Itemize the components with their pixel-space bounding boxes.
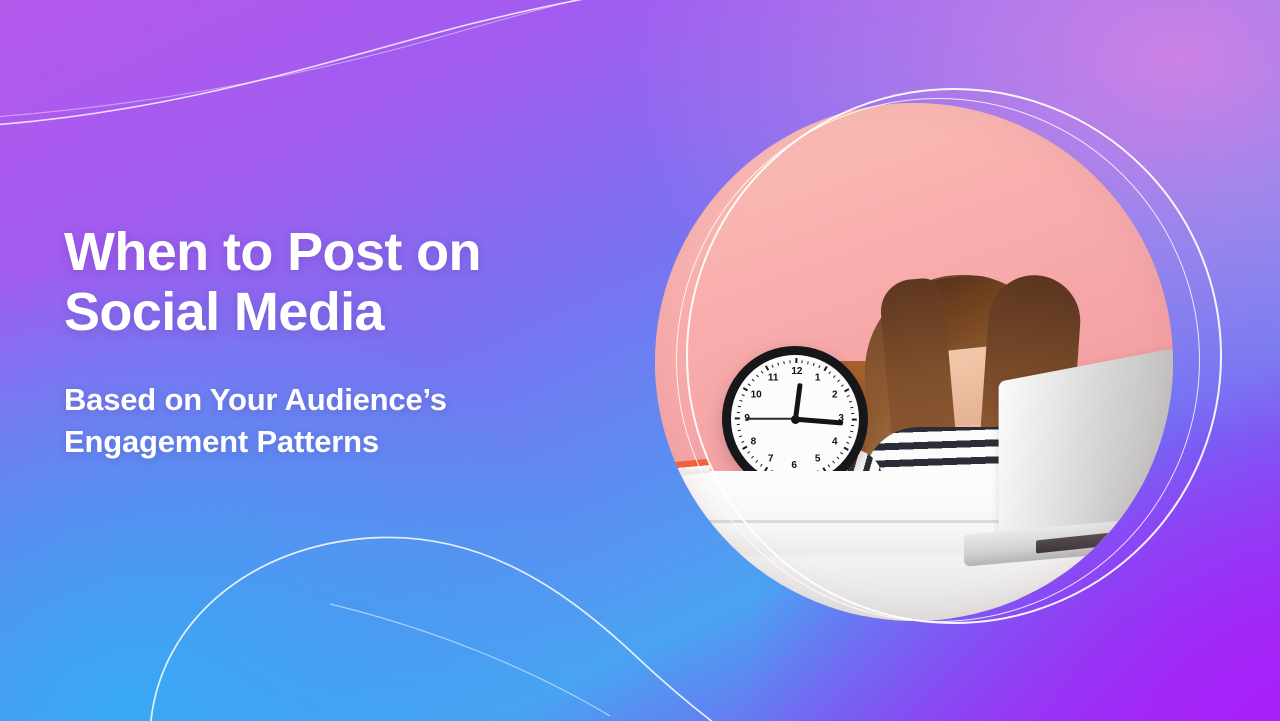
photo-rim: [655, 103, 1173, 621]
top-left-curve-path: [0, 0, 660, 126]
page-subtitle: Based on Your Audience’s Engagement Patt…: [64, 379, 624, 463]
top-left-curve-path-2: [0, 0, 640, 118]
social-media-banner: 121234567891011 When to Post on Social M…: [0, 0, 1280, 721]
hero-photo: 121234567891011: [655, 103, 1173, 621]
bottom-center-line-path: [330, 604, 610, 716]
copy-block: When to Post on Social Media Based on Yo…: [64, 222, 624, 463]
page-title: When to Post on Social Media: [64, 222, 624, 343]
